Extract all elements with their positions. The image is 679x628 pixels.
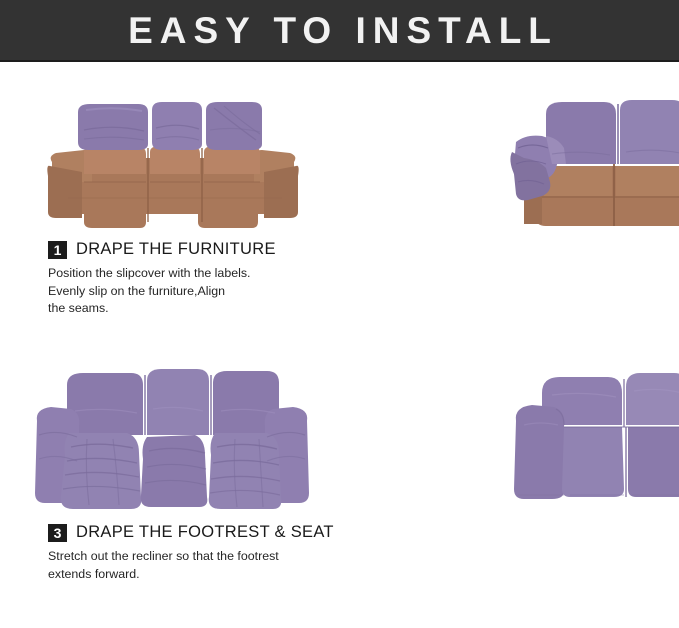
recliner-backrest-covered-icon (38, 90, 306, 240)
step-heading-1: 1 DRAPE THE FURNITURE (48, 240, 334, 259)
steps-grid: 1 DRAPE THE FURNITURE Position the slipc… (0, 62, 679, 628)
step-text-4: 4 TUCK & SMOOTH Adjust the cover to make… (344, 515, 679, 618)
step-text-1: 1 DRAPE THE FURNITURE Position the slipc… (0, 240, 344, 318)
header-bar: EASY TO INSTALL (0, 0, 679, 62)
illustration-step-1 (0, 62, 344, 240)
illustration-step-2 (344, 62, 679, 240)
step-heading-3: 3 DRAPE THE FOOTREST & SEAT (48, 523, 334, 542)
step-title-3: DRAPE THE FOOTREST & SEAT (76, 523, 334, 542)
step-title-1: DRAPE THE FURNITURE (76, 240, 276, 259)
step-body-3: Stretch out the recliner so that the foo… (48, 548, 334, 583)
recliner-smooth-fitted-icon (508, 365, 679, 515)
step-text-2: 2 DRAPE THE ARMS Using the 2 sections la… (344, 240, 679, 318)
recliner-arms-covered-icon (508, 90, 679, 240)
illustration-step-4 (344, 345, 679, 515)
page-title: EASY TO INSTALL (121, 12, 558, 49)
step-card-2: 2 DRAPE THE ARMS Using the 2 sections la… (344, 62, 679, 345)
step-card-4: 4 TUCK & SMOOTH Adjust the cover to make… (344, 345, 679, 628)
step-card-3: 3 DRAPE THE FOOTREST & SEAT Stretch out … (0, 345, 344, 628)
step-text-3: 3 DRAPE THE FOOTREST & SEAT Stretch out … (0, 515, 344, 583)
step-body-1: Position the slipcover with the labels. … (48, 265, 334, 318)
step-card-1: 1 DRAPE THE FURNITURE Position the slipc… (0, 62, 344, 345)
illustration-step-3 (0, 345, 344, 515)
step-number-badge-3: 3 (48, 524, 67, 542)
recliner-fully-draped-loose-icon (27, 355, 317, 515)
step-number-badge-1: 1 (48, 241, 67, 259)
